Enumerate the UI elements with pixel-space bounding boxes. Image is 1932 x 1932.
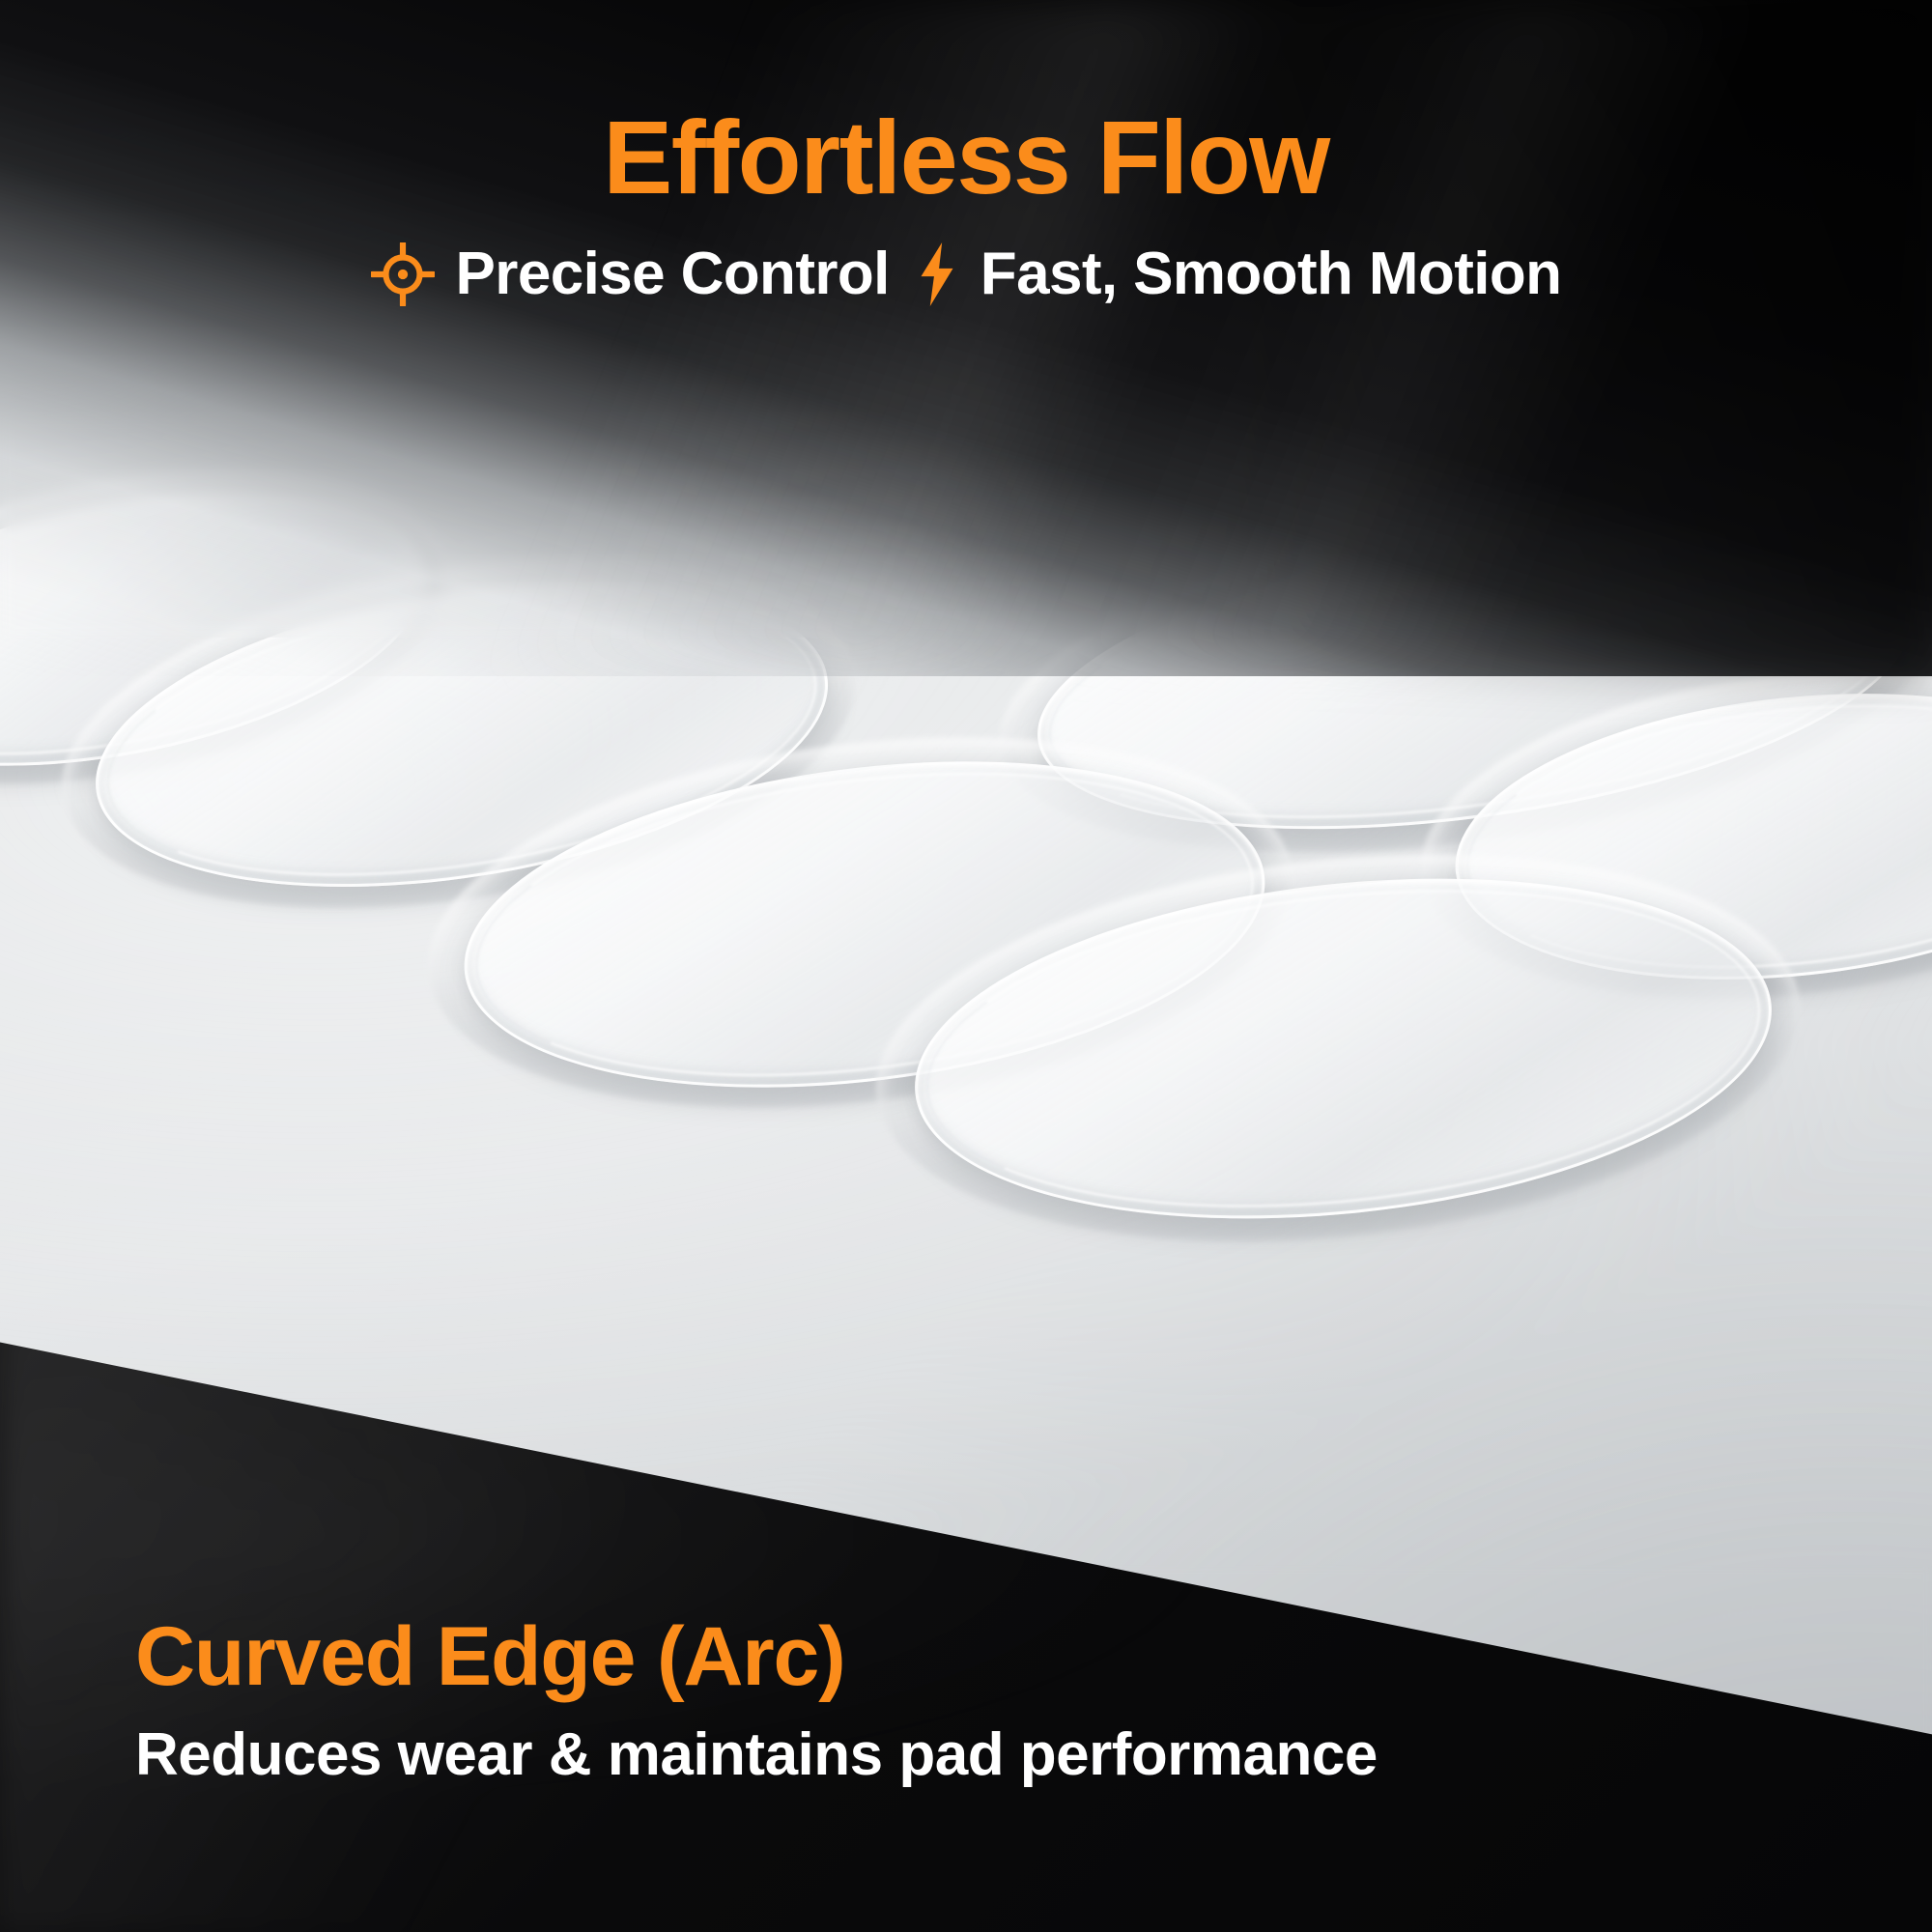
feature-label-precise-control: Precise Control (456, 240, 890, 308)
footer-title: Curved Edge (Arc) (135, 1614, 1378, 1700)
page-title: Effortless Flow (0, 104, 1932, 211)
product-feature-card: Effortless Flow Precise Control (0, 0, 1932, 1932)
header-text-block: Effortless Flow Precise Control (0, 104, 1932, 308)
feature-row: Precise Control Fast, Smooth Motion (0, 240, 1932, 308)
footer-subtitle: Reduces wear & maintains pad performance (135, 1723, 1378, 1787)
footer-text-block: Curved Edge (Arc) Reduces wear & maintai… (135, 1614, 1378, 1787)
crosshair-target-icon (371, 242, 435, 306)
lightning-bolt-icon (913, 242, 961, 306)
feature-label-fast-smooth-motion: Fast, Smooth Motion (980, 240, 1562, 308)
